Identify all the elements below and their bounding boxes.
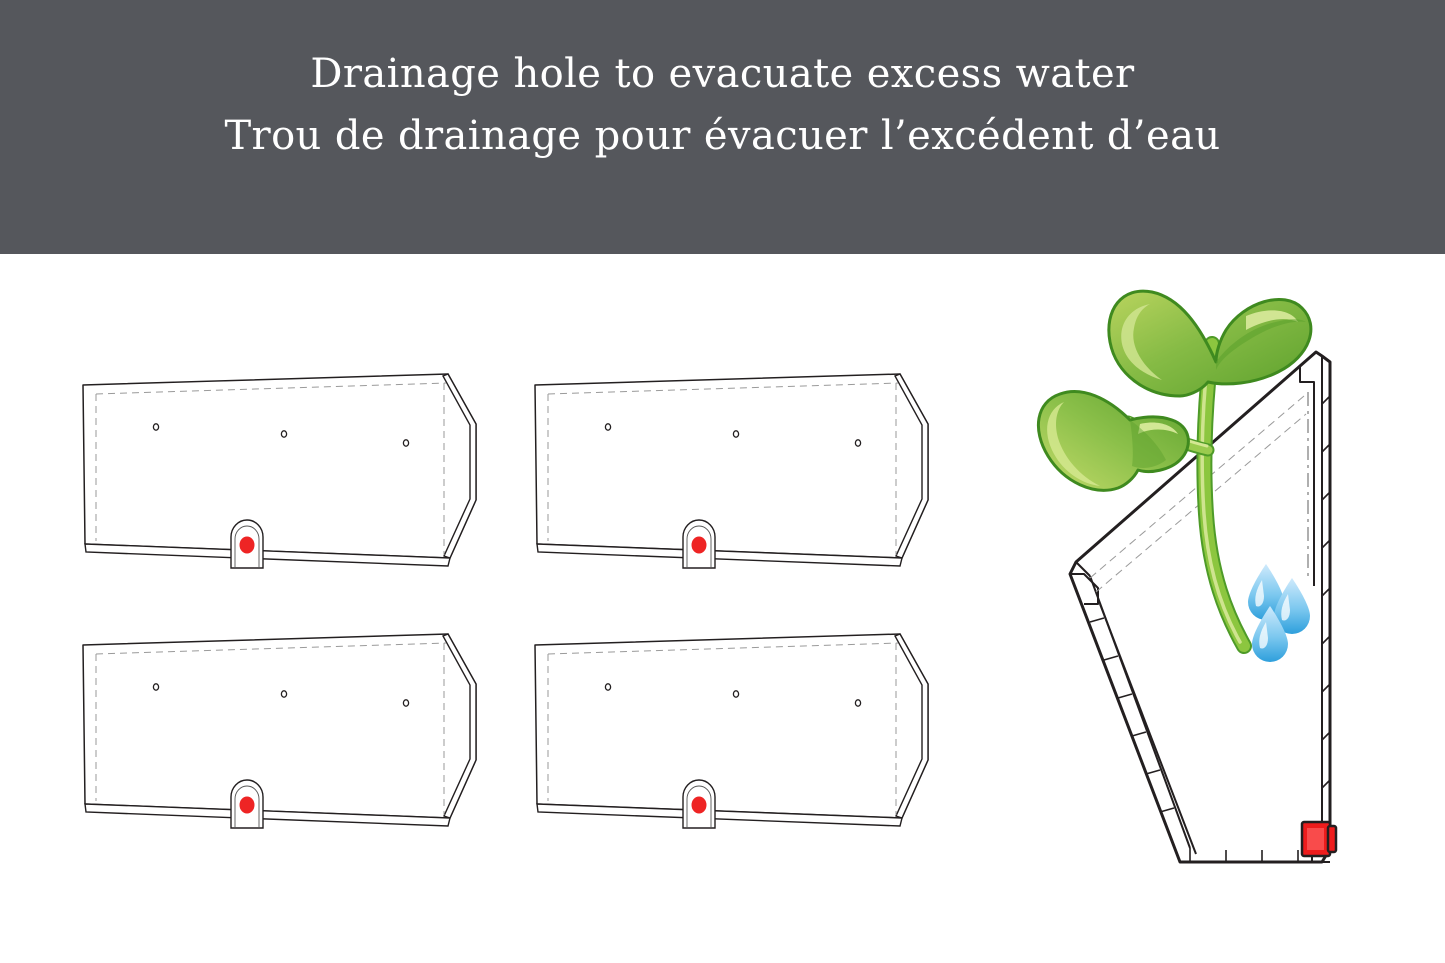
drainage-hole-icon (231, 520, 263, 568)
planter-module-4 (530, 632, 950, 842)
planter-module-1 (78, 372, 498, 582)
module-body (535, 374, 928, 558)
planter-module-2 (530, 372, 950, 582)
drainage-hole-icon (231, 780, 263, 828)
banner-title-english: Drainage hole to evacuate excess water (310, 48, 1134, 102)
planter-module-3 (78, 632, 498, 842)
drainage-plug-icon (1302, 822, 1336, 856)
module-body (535, 634, 928, 818)
banner-title-french: Trou de drainage pour évacuer l’excédent… (224, 110, 1220, 164)
cutaway-illustration (1030, 274, 1430, 894)
illustration-area (0, 254, 1445, 963)
module-body (83, 634, 476, 818)
module-body (83, 374, 476, 558)
drainage-hole-icon (683, 780, 715, 828)
leaf-icon-lower (1038, 392, 1188, 491)
drainage-hole-icon (683, 520, 715, 568)
header-banner: Drainage hole to evacuate excess water T… (0, 0, 1445, 254)
